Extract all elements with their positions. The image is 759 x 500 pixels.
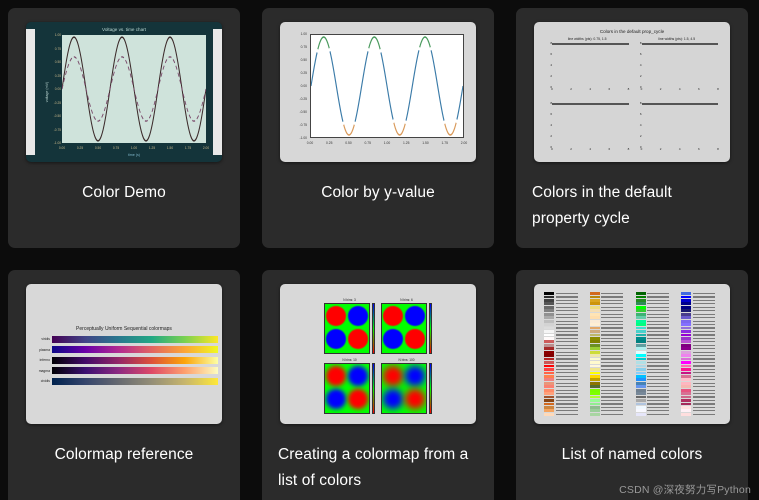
cycle-line xyxy=(643,104,718,105)
x-tick-label: 6 xyxy=(609,147,611,151)
cycle-line xyxy=(553,44,628,45)
y-axis-ticks: 86420 xyxy=(636,43,642,87)
cycle-line xyxy=(553,44,628,45)
cycle-line xyxy=(643,104,718,105)
color-name-label xyxy=(556,358,578,359)
cycle-line xyxy=(553,104,628,105)
subplot: N bins: 100 xyxy=(381,358,432,414)
x-tick-label: 1.00 xyxy=(131,146,137,150)
color-name-label xyxy=(556,369,578,370)
subplot-grid: N bins: 3N bins: 6N bins: 10N bins: 100 xyxy=(280,284,476,424)
colormap-name: plasma xyxy=(28,348,52,352)
color-chip xyxy=(681,334,691,337)
cycle-line xyxy=(553,104,628,105)
color-chip xyxy=(544,296,554,299)
color-chip xyxy=(636,323,646,326)
cycle-line xyxy=(643,104,718,105)
subplot: N bins: 3 xyxy=(324,298,375,354)
color-chip xyxy=(590,375,600,378)
color-chip xyxy=(544,337,554,340)
chart-title: Perceptually Uniform Sequential colormap… xyxy=(26,326,222,332)
color-chip xyxy=(544,313,554,316)
x-tick-label: 0 xyxy=(551,147,553,151)
color-name-label xyxy=(601,331,623,332)
x-tick-label: 8 xyxy=(628,87,630,91)
x-tick-label: 0.75 xyxy=(365,141,371,145)
color-name-label xyxy=(693,310,715,311)
color-chip xyxy=(590,309,600,312)
colormap-blob xyxy=(326,306,346,326)
color-chip xyxy=(544,340,554,343)
color-name-label xyxy=(693,362,715,363)
color-name-label xyxy=(601,372,623,373)
color-name-label xyxy=(601,300,623,301)
colormap-image xyxy=(324,363,370,414)
color-chip xyxy=(681,382,691,385)
x-tick-label: 0.75 xyxy=(113,146,119,150)
y-tick-label: 0.50 xyxy=(301,58,307,62)
color-name-label xyxy=(556,410,578,411)
x-tick-label: 1.25 xyxy=(403,141,409,145)
y-tick-label: 8 xyxy=(550,41,552,45)
color-chip xyxy=(544,385,554,388)
color-name-label xyxy=(647,383,669,384)
color-name-label xyxy=(647,331,669,332)
color-chip xyxy=(681,368,691,371)
thumbnail-wrapper: 1.000.750.500.250.00-0.25-0.50-0.75-1.00… xyxy=(276,22,480,162)
color-chip xyxy=(544,302,554,305)
color-chip xyxy=(590,337,600,340)
cycle-line xyxy=(643,104,718,105)
x-tick-label: 0 xyxy=(641,147,643,151)
color-name-label xyxy=(601,317,623,318)
x-tick-label: 1.50 xyxy=(167,146,173,150)
thumbnail-wrapper: Perceptually Uniform Sequential colormap… xyxy=(22,284,226,424)
color-chip xyxy=(636,375,646,378)
cycle-line xyxy=(553,104,628,105)
color-chip xyxy=(544,413,554,416)
color-column xyxy=(544,292,583,416)
color-name-label xyxy=(601,393,623,394)
color-name-label xyxy=(647,358,669,359)
color-chip xyxy=(590,382,600,385)
color-name-label xyxy=(601,386,623,387)
color-chip xyxy=(681,375,691,378)
color-chip xyxy=(636,361,646,364)
color-name-label xyxy=(556,407,578,408)
color-chip xyxy=(681,413,691,416)
color-name-label xyxy=(693,348,715,349)
color-name-label xyxy=(693,396,715,397)
cycle-line xyxy=(553,44,628,45)
color-chip xyxy=(590,372,600,375)
cycle-line xyxy=(553,44,628,45)
cycle-line xyxy=(643,44,718,45)
color-chip xyxy=(636,358,646,361)
x-tick-label: 0 xyxy=(641,87,643,91)
color-name-label xyxy=(601,310,623,311)
x-tick-label: 0.25 xyxy=(77,146,83,150)
cycle-line xyxy=(553,44,628,45)
color-chip xyxy=(681,354,691,357)
color-chip xyxy=(544,306,554,309)
cycle-line xyxy=(553,104,628,105)
color-name-label xyxy=(693,345,715,346)
colormap-blob xyxy=(326,389,346,409)
color-chip xyxy=(544,396,554,399)
color-name-label xyxy=(647,362,669,363)
color-chip xyxy=(590,340,600,343)
color-chip xyxy=(590,327,600,330)
colormap-blob xyxy=(405,306,425,326)
color-column xyxy=(681,292,720,416)
cycle-line xyxy=(643,104,718,105)
y-tick-label: 0.00 xyxy=(301,84,307,88)
color-name-label xyxy=(693,400,715,401)
color-name-label xyxy=(601,410,623,411)
color-chip xyxy=(681,309,691,312)
color-chip xyxy=(681,351,691,354)
x-tick-label: 6 xyxy=(698,147,700,151)
x-tick-label: 0.00 xyxy=(59,146,65,150)
cycle-line xyxy=(553,44,628,45)
x-tick-label: 8 xyxy=(628,147,630,151)
color-chip xyxy=(544,406,554,409)
color-chip xyxy=(681,399,691,402)
colorbar xyxy=(429,303,433,354)
color-chip xyxy=(544,378,554,381)
color-chip xyxy=(636,413,646,416)
colorbar xyxy=(372,363,376,414)
figure-left-bar xyxy=(26,29,35,155)
x-axis-label: time (s) xyxy=(62,153,206,157)
color-chip xyxy=(544,389,554,392)
subplot: N bins: 10 xyxy=(324,358,375,414)
colormap-blob xyxy=(348,389,368,409)
color-name-label xyxy=(647,372,669,373)
x-axis-ticks: 02468 xyxy=(642,147,719,152)
color-chip xyxy=(636,372,646,375)
color-name-label xyxy=(647,355,669,356)
color-name-label xyxy=(647,396,669,397)
color-chip xyxy=(590,320,600,323)
color-name-label xyxy=(693,303,715,304)
color-chip xyxy=(681,385,691,388)
colormap-row: plasma xyxy=(52,346,218,354)
color-chip xyxy=(636,354,646,357)
color-name-label xyxy=(693,379,715,380)
color-name-label xyxy=(601,352,623,353)
color-chip xyxy=(636,306,646,309)
cycle-line xyxy=(643,44,718,45)
color-chip xyxy=(681,372,691,375)
color-name-label xyxy=(693,300,715,301)
cycle-line xyxy=(643,44,718,45)
color-name-label xyxy=(601,348,623,349)
colormap-name: cividis xyxy=(28,379,52,383)
thumbnail-wrapper: Colors in the default prop_cycle line wi… xyxy=(530,22,734,162)
x-axis-ticks: 0.000.250.500.751.001.251.501.752.00 xyxy=(310,141,464,147)
x-tick-label: 0.50 xyxy=(345,141,351,145)
color-chip xyxy=(636,334,646,337)
color-chip xyxy=(636,378,646,381)
x-tick-label: 1.75 xyxy=(185,146,191,150)
color-chip xyxy=(636,365,646,368)
x-tick-label: 8 xyxy=(717,87,719,91)
cycle-line xyxy=(643,104,718,105)
color-name-label xyxy=(556,341,578,342)
gallery-card-default-prop-cycle[interactable]: Colors in the default prop_cycle line wi… xyxy=(516,8,748,248)
color-name-label xyxy=(601,379,623,380)
gallery-card-colormap-from-list[interactable]: N bins: 3N bins: 6N bins: 10N bins: 100 … xyxy=(262,270,494,500)
color-chip xyxy=(590,378,600,381)
color-name-label xyxy=(693,338,715,339)
color-chip xyxy=(590,344,600,347)
color-name-label xyxy=(693,410,715,411)
cycle-line xyxy=(643,44,718,45)
color-chip xyxy=(636,409,646,412)
color-name-label xyxy=(693,321,715,322)
color-chip xyxy=(544,354,554,357)
color-chip xyxy=(636,292,646,295)
colormap-blob xyxy=(383,306,403,326)
color-name-label xyxy=(647,310,669,311)
color-name-label xyxy=(556,365,578,366)
thumbnail-color-demo: Voltage vs. time chart voltage (mV) 1.00… xyxy=(26,22,222,162)
color-chip xyxy=(636,382,646,385)
color-chip xyxy=(636,337,646,340)
cycle-line xyxy=(553,44,628,45)
colormap-blob xyxy=(348,329,368,349)
gallery-card-colormap-reference[interactable]: Perceptually Uniform Sequential colormap… xyxy=(8,270,240,500)
color-name-label xyxy=(601,314,623,315)
color-chip xyxy=(636,385,646,388)
color-name-label xyxy=(693,358,715,359)
color-name-label xyxy=(647,334,669,335)
color-chip xyxy=(590,399,600,402)
color-name-label xyxy=(556,300,578,301)
color-name-label xyxy=(693,293,715,294)
color-chip xyxy=(590,403,600,406)
color-name-label xyxy=(693,352,715,353)
color-chip xyxy=(544,392,554,395)
color-name-label xyxy=(556,321,578,322)
colormap-blob xyxy=(348,306,368,326)
color-name-label xyxy=(693,324,715,325)
cycle-line xyxy=(643,104,718,105)
colormap-gradient-bar xyxy=(52,336,218,343)
y-tick-label: 0.50 xyxy=(55,60,61,64)
x-tick-label: 2 xyxy=(570,147,572,151)
plot-area xyxy=(62,35,206,143)
color-chip xyxy=(681,409,691,412)
cycle-line xyxy=(643,44,718,45)
color-name-label xyxy=(556,362,578,363)
cycle-line xyxy=(643,104,718,105)
color-name-label xyxy=(556,414,578,415)
color-name-label xyxy=(693,314,715,315)
y-tick-label: 1.00 xyxy=(301,32,307,36)
cycle-line xyxy=(553,44,628,45)
color-name-label xyxy=(693,414,715,415)
color-name-label xyxy=(556,327,578,328)
cycle-line xyxy=(553,44,628,45)
colormap-blob xyxy=(383,329,403,349)
colormap-blob xyxy=(326,329,346,349)
sine-curves xyxy=(62,35,206,143)
color-chip xyxy=(636,399,646,402)
color-name-label xyxy=(556,303,578,304)
subplot-panel xyxy=(642,43,719,45)
x-tick-label: 0.25 xyxy=(326,141,332,145)
color-chip xyxy=(636,406,646,409)
color-name-label xyxy=(647,300,669,301)
cycle-line xyxy=(553,104,628,105)
color-chip xyxy=(636,299,646,302)
color-name-label xyxy=(647,410,669,411)
color-name-label xyxy=(556,314,578,315)
color-name-label xyxy=(556,355,578,356)
subplot: 8642002468 xyxy=(636,97,719,152)
y-tick-label: 2 xyxy=(640,134,642,138)
y-axis-ticks: 86420 xyxy=(546,43,552,87)
color-chip xyxy=(636,389,646,392)
color-name-label xyxy=(647,324,669,325)
x-tick-label: 4 xyxy=(589,87,591,91)
color-chip xyxy=(681,358,691,361)
color-name-label xyxy=(601,390,623,391)
color-column xyxy=(636,292,675,416)
colormap-row: magma xyxy=(52,367,218,375)
cycle-line xyxy=(553,104,628,105)
color-name-label xyxy=(601,293,623,294)
color-name-label xyxy=(647,393,669,394)
color-name-label xyxy=(647,379,669,380)
colormap-blob xyxy=(405,329,425,349)
color-chip xyxy=(590,306,600,309)
colorbar xyxy=(429,363,433,414)
color-name-label xyxy=(647,386,669,387)
card-title: Creating a colormap from a list of color… xyxy=(276,442,480,494)
thumbnail-color-by-y-value: 1.000.750.500.250.00-0.25-0.50-0.75-1.00… xyxy=(280,22,476,162)
card-title: Colors in the default property cycle xyxy=(530,180,734,232)
y-tick-label: 8 xyxy=(640,41,642,45)
x-tick-label: 2 xyxy=(570,87,572,91)
y-tick-label: -0.75 xyxy=(54,128,61,132)
x-tick-label: 1.75 xyxy=(442,141,448,145)
gallery-card-color-by-y-value[interactable]: 1.000.750.500.250.00-0.25-0.50-0.75-1.00… xyxy=(262,8,494,248)
color-chip xyxy=(681,316,691,319)
color-chip xyxy=(590,409,600,412)
colormap-blob xyxy=(326,366,346,386)
color-name-label xyxy=(556,372,578,373)
color-chip xyxy=(590,330,600,333)
color-name-label xyxy=(556,324,578,325)
colormap-name: inferno xyxy=(28,358,52,362)
y-tick-label: 2 xyxy=(550,134,552,138)
color-chip xyxy=(544,409,554,412)
color-name-label xyxy=(693,317,715,318)
color-chip xyxy=(681,296,691,299)
cycle-line xyxy=(643,44,718,45)
cycle-line xyxy=(553,44,628,45)
x-tick-label: 1.25 xyxy=(149,146,155,150)
color-chip xyxy=(544,320,554,323)
color-chip xyxy=(681,337,691,340)
thumbnail-colormap-from-list: N bins: 3N bins: 6N bins: 10N bins: 100 xyxy=(280,284,476,424)
color-name-label xyxy=(693,369,715,370)
subplot-panel xyxy=(552,43,629,45)
color-name-label xyxy=(647,296,669,297)
thumbnail-wrapper xyxy=(530,284,734,424)
color-chip xyxy=(590,413,600,416)
y-tick-label: 4 xyxy=(640,123,642,127)
color-chip xyxy=(544,330,554,333)
cycle-line xyxy=(643,104,718,105)
cycle-line xyxy=(643,44,718,45)
color-swatch-row xyxy=(590,413,629,416)
color-chip xyxy=(590,354,600,357)
x-tick-label: 2 xyxy=(660,147,662,151)
colormap-blob xyxy=(405,366,425,386)
y-tick-label: 8 xyxy=(640,101,642,105)
x-tick-label: 6 xyxy=(698,87,700,91)
color-name-label xyxy=(647,321,669,322)
cycle-line xyxy=(643,104,718,105)
color-name-label xyxy=(601,307,623,308)
colormap-image xyxy=(381,363,427,414)
color-name-label xyxy=(556,393,578,394)
color-name-label xyxy=(601,383,623,384)
color-chip xyxy=(681,406,691,409)
subplot: 8642002468 xyxy=(546,97,629,152)
x-tick-label: 4 xyxy=(679,147,681,151)
color-name-label xyxy=(601,358,623,359)
cycle-line xyxy=(643,44,718,45)
color-name-label xyxy=(601,341,623,342)
x-tick-label: 4 xyxy=(589,147,591,151)
color-chip xyxy=(681,330,691,333)
segmented-sine-curve xyxy=(311,35,463,137)
color-name-label xyxy=(647,327,669,328)
color-name-label xyxy=(647,293,669,294)
color-chip xyxy=(636,302,646,305)
color-name-label xyxy=(647,352,669,353)
y-tick-label: 0.25 xyxy=(55,74,61,78)
color-name-label xyxy=(693,383,715,384)
cycle-line xyxy=(553,104,628,105)
color-name-label xyxy=(556,352,578,353)
x-tick-label: 2 xyxy=(660,87,662,91)
cycle-line xyxy=(643,104,718,105)
color-chip xyxy=(636,327,646,330)
color-name-label xyxy=(647,369,669,370)
gallery-card-named-colors[interactable]: List of named colors xyxy=(516,270,748,500)
y-tick-label: -0.75 xyxy=(299,123,307,127)
color-name-label xyxy=(693,327,715,328)
x-tick-label: 8 xyxy=(717,147,719,151)
color-name-label xyxy=(556,345,578,346)
cycle-line xyxy=(553,104,628,105)
color-name-label xyxy=(556,296,578,297)
cycle-line xyxy=(643,44,718,45)
color-name-label xyxy=(601,396,623,397)
gallery-card-color-demo[interactable]: Voltage vs. time chart voltage (mV) 1.00… xyxy=(8,8,240,248)
color-name-label xyxy=(693,334,715,335)
color-name-label xyxy=(693,393,715,394)
color-name-label xyxy=(601,407,623,408)
y-tick-label: -0.25 xyxy=(54,101,61,105)
